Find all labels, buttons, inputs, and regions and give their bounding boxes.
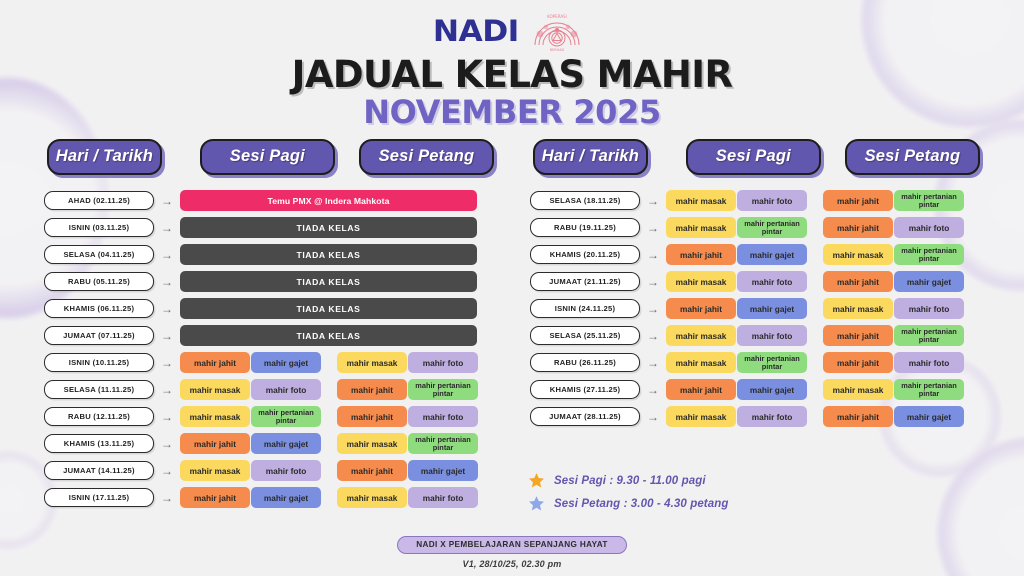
table-body: AHAD (02.11.25)→Temu PMX @ Indera Mahkot… (44, 189, 494, 509)
class-pill[interactable]: mahir jahit (666, 244, 736, 265)
column-header-day: Hari / Tarikh (47, 139, 162, 175)
event-banner: Temu PMX @ Indera Mahkota (180, 190, 477, 211)
class-pill[interactable]: mahir gajet (408, 460, 478, 481)
day-date-pill[interactable]: SELASA (11.11.25) (44, 380, 154, 399)
table-row: AHAD (02.11.25)→Temu PMX @ Indera Mahkot… (44, 189, 494, 212)
column-header-evening: Sesi Petang (845, 139, 980, 175)
no-class-banner: TIADA KELAS (180, 271, 477, 292)
table-row: RABU (05.11.25)→TIADA KELAS (44, 270, 494, 293)
table-row: SELASA (11.11.25)→mahir masakmahir fotom… (44, 378, 494, 401)
arrow-right-icon: → (154, 411, 180, 423)
class-pill[interactable]: mahir masak (666, 352, 736, 373)
schedule-table-first-half: Hari / Tarikh Sesi Pagi Sesi Petang AHAD… (44, 139, 494, 509)
session-cells: mahir masakmahir fotomahir jahitmahir pe… (180, 379, 478, 400)
class-pill[interactable]: mahir foto (737, 271, 807, 292)
star-icon (528, 472, 545, 489)
arrow-right-icon: → (154, 195, 180, 207)
table-row: KHAMIS (06.11.25)→TIADA KELAS (44, 297, 494, 320)
arrow-right-icon: → (154, 438, 180, 450)
day-date-pill[interactable]: RABU (26.11.25) (530, 353, 640, 372)
arrow-right-icon: → (640, 276, 666, 288)
column-header-morning: Sesi Pagi (686, 139, 821, 175)
day-date-pill[interactable]: JUMAAT (28.11.25) (530, 407, 640, 426)
class-pill[interactable]: mahir gajet (251, 487, 321, 508)
table-row: RABU (26.11.25)→mahir masakmahir pertani… (530, 351, 980, 374)
table-row: ISNIN (03.11.25)→TIADA KELAS (44, 216, 494, 239)
column-header-row: Hari / Tarikh Sesi Pagi Sesi Petang (44, 139, 494, 175)
class-pill[interactable]: mahir masak (666, 190, 736, 211)
session-cells: mahir masakmahir fotomahir jahitmahir pe… (666, 325, 964, 346)
column-header-morning: Sesi Pagi (200, 139, 335, 175)
table-row: JUMAAT (28.11.25)→mahir masakmahir fotom… (530, 405, 980, 428)
arrow-right-icon: → (640, 195, 666, 207)
day-date-pill[interactable]: ISNIN (10.11.25) (44, 353, 154, 372)
class-pill[interactable]: mahir jahit (180, 433, 250, 454)
day-date-pill[interactable]: KHAMIS (27.11.25) (530, 380, 640, 399)
arrow-right-icon: → (154, 249, 180, 261)
class-pill[interactable]: mahir gajet (251, 433, 321, 454)
arrow-right-icon: → (154, 276, 180, 288)
class-pill[interactable]: mahir jahit (337, 379, 407, 400)
footer-badge: NADI X PEMBELAJARAN SEPANJANG HAYAT (397, 536, 627, 554)
session-cells: mahir jahitmahir gajetmahir masakmahir p… (666, 244, 964, 265)
page-header: NADI KOPERASI BERHAD JADUAL KELAS MAHIR … (0, 0, 1024, 129)
class-pill[interactable]: mahir masak (180, 406, 250, 427)
table-row: RABU (19.11.25)→mahir masakmahir pertani… (530, 216, 980, 239)
day-date-pill[interactable]: ISNIN (24.11.25) (530, 299, 640, 318)
class-pill[interactable]: mahir pertanian pintar (894, 244, 964, 265)
session-cells: mahir jahitmahir gajetmahir masakmahir f… (180, 352, 478, 373)
class-pill[interactable]: mahir pertanian pintar (251, 406, 321, 427)
session-cells: TIADA KELAS (180, 325, 477, 346)
class-pill[interactable]: mahir jahit (180, 487, 250, 508)
session-cells: TIADA KELAS (180, 244, 477, 265)
class-pill[interactable]: mahir jahit (823, 406, 893, 427)
day-date-pill[interactable]: SELASA (18.11.25) (530, 191, 640, 210)
legend-item: Sesi Pagi : 9.30 - 11.00 pagi (528, 472, 729, 489)
day-date-pill[interactable]: JUMAAT (07.11.25) (44, 326, 154, 345)
arrow-right-icon: → (154, 222, 180, 234)
class-pill[interactable]: mahir foto (251, 379, 321, 400)
koperasi-emblem-icon: KOPERASI BERHAD (526, 9, 588, 53)
class-pill[interactable]: mahir foto (408, 352, 478, 373)
star-icon (528, 495, 545, 512)
class-pill[interactable]: mahir foto (894, 298, 964, 319)
arrow-right-icon: → (640, 249, 666, 261)
class-pill[interactable]: mahir foto (251, 460, 321, 481)
column-header-row: Hari / Tarikh Sesi Pagi Sesi Petang (530, 139, 980, 175)
page-footer: NADI X PEMBELAJARAN SEPANJANG HAYAT V1, … (0, 534, 1024, 569)
no-class-banner: TIADA KELAS (180, 217, 477, 238)
arrow-right-icon: → (154, 330, 180, 342)
day-date-pill[interactable]: KHAMIS (06.11.25) (44, 299, 154, 318)
class-pill[interactable]: mahir pertanian pintar (894, 190, 964, 211)
arrow-right-icon: → (640, 330, 666, 342)
class-pill[interactable]: mahir jahit (823, 190, 893, 211)
session-cells: mahir jahitmahir gajetmahir masakmahir p… (180, 433, 478, 454)
class-pill[interactable]: mahir masak (337, 433, 407, 454)
svg-text:KOPERASI: KOPERASI (547, 14, 567, 19)
session-cells: mahir jahitmahir gajetmahir masakmahir f… (666, 298, 964, 319)
class-pill[interactable]: mahir jahit (180, 352, 250, 373)
arrow-right-icon: → (154, 492, 180, 504)
session-cells: TIADA KELAS (180, 298, 477, 319)
day-date-pill[interactable]: KHAMIS (13.11.25) (44, 434, 154, 453)
class-pill[interactable]: mahir pertanian pintar (894, 325, 964, 346)
table-row: ISNIN (10.11.25)→mahir jahitmahir gajetm… (44, 351, 494, 374)
day-date-pill[interactable]: KHAMIS (20.11.25) (530, 245, 640, 264)
session-cells: TIADA KELAS (180, 271, 477, 292)
arrow-right-icon: → (154, 357, 180, 369)
arrow-right-icon: → (640, 357, 666, 369)
session-cells: Temu PMX @ Indera Mahkota (180, 190, 477, 211)
column-header-evening: Sesi Petang (359, 139, 494, 175)
day-date-pill[interactable]: RABU (19.11.25) (530, 218, 640, 237)
class-pill[interactable]: mahir pertanian pintar (408, 379, 478, 400)
table-row: ISNIN (17.11.25)→mahir jahitmahir gajetm… (44, 486, 494, 509)
class-pill[interactable]: mahir pertanian pintar (894, 379, 964, 400)
class-pill[interactable]: mahir pertanian pintar (737, 217, 807, 238)
class-pill[interactable]: mahir foto (408, 406, 478, 427)
day-date-pill[interactable]: JUMAAT (14.11.25) (44, 461, 154, 480)
legend-label: Sesi Pagi : 9.30 - 11.00 pagi (554, 475, 706, 487)
session-cells: mahir jahitmahir gajetmahir masakmahir p… (666, 379, 964, 400)
class-pill[interactable]: mahir masak (337, 352, 407, 373)
page-title: JADUAL KELAS MAHIR (0, 56, 1024, 95)
class-pill[interactable]: mahir foto (737, 190, 807, 211)
arrow-right-icon: → (154, 303, 180, 315)
session-cells: mahir masakmahir fotomahir jahitmahir pe… (666, 190, 964, 211)
class-pill[interactable]: mahir gajet (737, 244, 807, 265)
brand-row: NADI KOPERASI BERHAD (0, 8, 1024, 54)
table-row: ISNIN (24.11.25)→mahir jahitmahir gajetm… (530, 297, 980, 320)
table-row: RABU (12.11.25)→mahir masakmahir pertani… (44, 405, 494, 428)
day-date-pill[interactable]: RABU (12.11.25) (44, 407, 154, 426)
table-row: JUMAAT (14.11.25)→mahir masakmahir fotom… (44, 459, 494, 482)
table-row: SELASA (25.11.25)→mahir masakmahir fotom… (530, 324, 980, 347)
session-cells: mahir masakmahir fotomahir jahitmahir ga… (180, 460, 478, 481)
class-pill[interactable]: mahir masak (180, 460, 250, 481)
class-pill[interactable]: mahir jahit (337, 406, 407, 427)
legend-item: Sesi Petang : 3.00 - 4.30 petang (528, 495, 729, 512)
session-cells: mahir masakmahir pertanian pintarmahir j… (666, 217, 964, 238)
session-cells: mahir jahitmahir gajetmahir masakmahir f… (180, 487, 478, 508)
table-row: KHAMIS (20.11.25)→mahir jahitmahir gajet… (530, 243, 980, 266)
arrow-right-icon: → (640, 384, 666, 396)
table-row: SELASA (18.11.25)→mahir masakmahir fotom… (530, 189, 980, 212)
class-pill[interactable]: mahir gajet (737, 379, 807, 400)
class-pill[interactable]: mahir gajet (894, 406, 964, 427)
arrow-right-icon: → (640, 222, 666, 234)
footer-version: V1, 28/10/25, 02.30 pm (0, 559, 1024, 569)
class-pill[interactable]: mahir jahit (337, 460, 407, 481)
class-pill[interactable]: mahir masak (823, 379, 893, 400)
schedule-tables: Hari / Tarikh Sesi Pagi Sesi Petang AHAD… (0, 139, 1024, 509)
class-pill[interactable]: mahir jahit (823, 271, 893, 292)
session-cells: mahir masakmahir fotomahir jahitmahir ga… (666, 271, 964, 292)
class-pill[interactable]: mahir masak (666, 406, 736, 427)
day-date-pill[interactable]: SELASA (04.11.25) (44, 245, 154, 264)
day-date-pill[interactable]: JUMAAT (21.11.25) (530, 272, 640, 291)
class-pill[interactable]: mahir masak (666, 217, 736, 238)
class-pill[interactable]: mahir gajet (894, 271, 964, 292)
session-cells: mahir masakmahir fotomahir jahitmahir ga… (666, 406, 964, 427)
column-header-day: Hari / Tarikh (533, 139, 648, 175)
table-row: SELASA (04.11.25)→TIADA KELAS (44, 243, 494, 266)
no-class-banner: TIADA KELAS (180, 244, 477, 265)
session-cells: TIADA KELAS (180, 217, 477, 238)
arrow-right-icon: → (640, 303, 666, 315)
legend-label: Sesi Petang : 3.00 - 4.30 petang (554, 498, 729, 510)
arrow-right-icon: → (640, 411, 666, 423)
no-class-banner: TIADA KELAS (180, 325, 477, 346)
table-body: SELASA (18.11.25)→mahir masakmahir fotom… (530, 189, 980, 428)
session-cells: mahir masakmahir pertanian pintarmahir j… (180, 406, 478, 427)
class-pill[interactable]: mahir masak (823, 244, 893, 265)
class-pill[interactable]: mahir gajet (251, 352, 321, 373)
class-pill[interactable]: mahir pertanian pintar (408, 433, 478, 454)
class-pill[interactable]: mahir pertanian pintar (737, 352, 807, 373)
class-pill[interactable]: mahir jahit (666, 379, 736, 400)
svg-text:BERHAD: BERHAD (550, 48, 565, 52)
day-date-pill[interactable]: RABU (05.11.25) (44, 272, 154, 291)
table-row: KHAMIS (27.11.25)→mahir jahitmahir gajet… (530, 378, 980, 401)
class-pill[interactable]: mahir masak (180, 379, 250, 400)
class-pill[interactable]: mahir gajet (737, 298, 807, 319)
session-time-legend: Sesi Pagi : 9.30 - 11.00 pagiSesi Petang… (528, 472, 729, 512)
day-date-pill[interactable]: ISNIN (03.11.25) (44, 218, 154, 237)
class-pill[interactable]: mahir jahit (823, 325, 893, 346)
table-row: KHAMIS (13.11.25)→mahir jahitmahir gajet… (44, 432, 494, 455)
class-pill[interactable]: mahir masak (666, 325, 736, 346)
class-pill[interactable]: mahir foto (737, 406, 807, 427)
table-row: JUMAAT (21.11.25)→mahir masakmahir fotom… (530, 270, 980, 293)
class-pill[interactable]: mahir foto (894, 217, 964, 238)
class-pill[interactable]: mahir masak (823, 298, 893, 319)
arrow-right-icon: → (154, 384, 180, 396)
class-pill[interactable]: mahir masak (337, 487, 407, 508)
class-pill[interactable]: mahir foto (408, 487, 478, 508)
no-class-banner: TIADA KELAS (180, 298, 477, 319)
schedule-table-second-half: Hari / Tarikh Sesi Pagi Sesi Petang SELA… (530, 139, 980, 509)
table-row: JUMAAT (07.11.25)→TIADA KELAS (44, 324, 494, 347)
session-cells: mahir masakmahir pertanian pintarmahir j… (666, 352, 964, 373)
class-pill[interactable]: mahir jahit (823, 217, 893, 238)
day-date-pill[interactable]: ISNIN (17.11.25) (44, 488, 154, 507)
brand-name: NADI (433, 14, 519, 48)
class-pill[interactable]: mahir masak (666, 271, 736, 292)
class-pill[interactable]: mahir foto (737, 325, 807, 346)
class-pill[interactable]: mahir jahit (666, 298, 736, 319)
arrow-right-icon: → (154, 465, 180, 477)
page-subtitle: NOVEMBER 2025 (0, 96, 1024, 130)
day-date-pill[interactable]: SELASA (25.11.25) (530, 326, 640, 345)
day-date-pill[interactable]: AHAD (02.11.25) (44, 191, 154, 210)
class-pill[interactable]: mahir foto (894, 352, 964, 373)
class-pill[interactable]: mahir jahit (823, 352, 893, 373)
